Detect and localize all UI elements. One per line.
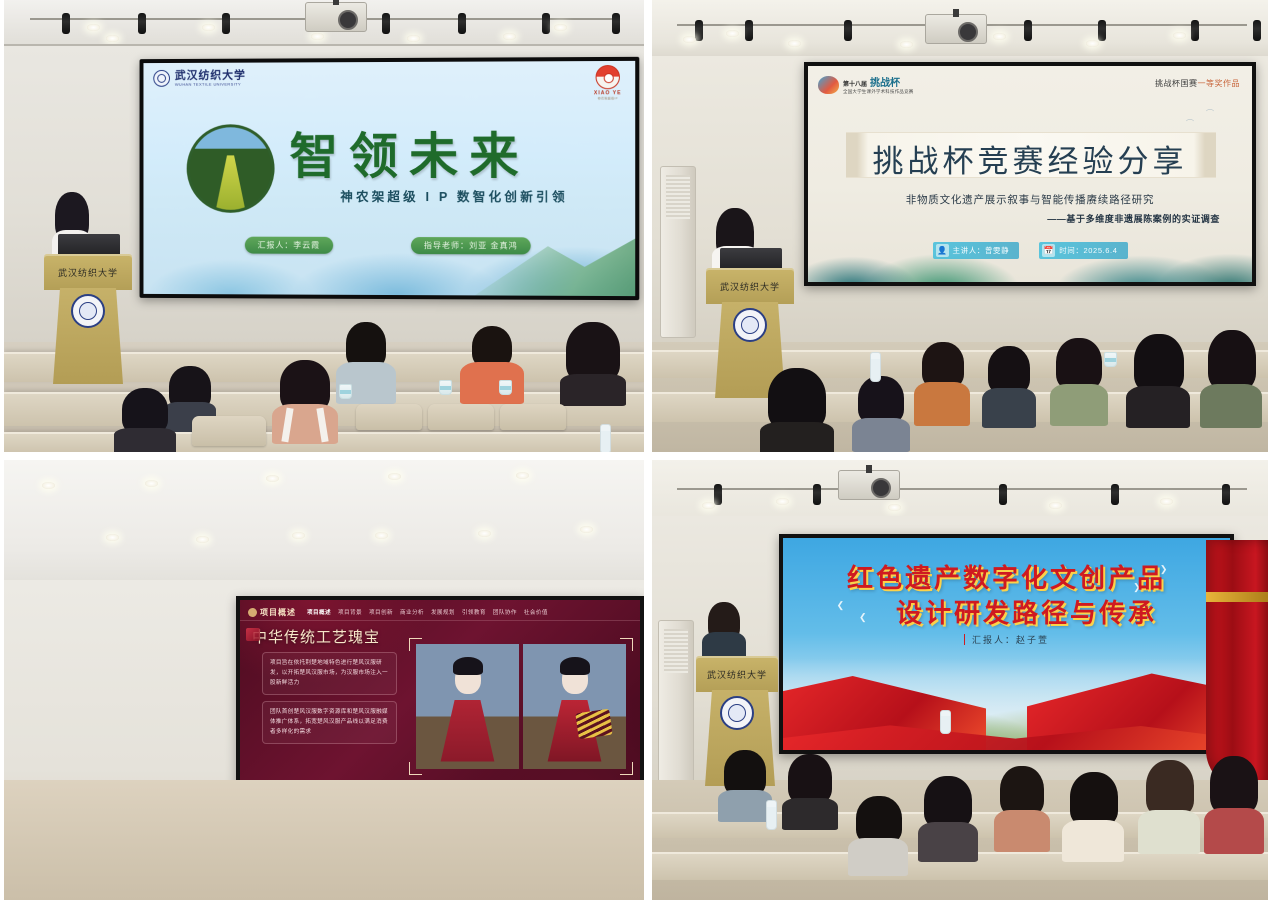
slide-2: 第十八届 挑战杯 全国大学生课外学术科技作品竞赛 挑战杯国赛一等奖作品 ⌒ ⌒ … <box>808 66 1252 282</box>
audience-member <box>782 754 838 828</box>
water-bottle <box>766 800 777 830</box>
track-spot-light <box>62 13 70 34</box>
person-icon: 👤 <box>936 244 949 257</box>
brand-dot-icon <box>248 608 257 617</box>
audience-member <box>114 388 176 452</box>
presenter-pill: 汇报人：李云霞 <box>245 237 333 254</box>
chair-back <box>192 416 266 446</box>
ceiling-projector <box>305 2 367 32</box>
slide-brand: 项目概述 <box>248 607 296 618</box>
track-spot-light <box>813 484 821 505</box>
university-logo: 武汉纺织大学 WUHAN TEXTILE UNIVERSITY <box>153 70 246 87</box>
ceiling-projector <box>838 470 900 500</box>
nav-item-3[interactable]: 商业分析 <box>400 608 424 616</box>
audience-member <box>718 750 772 820</box>
frame-corner-bl <box>409 762 422 775</box>
downlight <box>42 482 55 489</box>
slide-title: 智领未来 <box>289 116 610 188</box>
award-level: 一等奖作品 <box>1198 79 1241 88</box>
podium-label: 武汉纺织大学 <box>706 280 794 293</box>
panel-bottom-left: 项目概述 项目概述 项目背景 项目创新 商业分析 发展规划 引领教育 团队协作 … <box>4 460 644 900</box>
audience-member <box>560 322 626 406</box>
stage-curtain <box>1206 540 1268 790</box>
track-spot-light <box>999 484 1007 505</box>
frame-corner-br <box>620 762 633 775</box>
seagull-icon: ⌒ <box>1206 108 1214 119</box>
downlight <box>1086 40 1099 47</box>
downlight <box>726 30 739 37</box>
track-spot-light <box>612 13 620 34</box>
slide-subtitle: 非物质文化遗产展示叙事与智能传播赓续路径研究 <box>808 192 1252 207</box>
audience-member <box>914 342 970 424</box>
downlight <box>900 41 913 48</box>
challenge-cup-icon <box>818 76 839 94</box>
water-bottle <box>600 424 611 452</box>
downlight <box>292 532 305 539</box>
figure-hair <box>560 657 590 675</box>
slide-image-group <box>416 644 626 769</box>
slide-credits: 汇报人：李云霞 指导老师：刘亚 金真鸿 <box>143 236 635 254</box>
audience-member <box>272 360 338 442</box>
audience-member <box>852 376 910 450</box>
contest-edition: 第十八届 <box>843 79 867 88</box>
advisor-pill: 指导老师：刘亚 金真鸿 <box>411 237 531 254</box>
figure-hair <box>453 657 483 675</box>
date-label: 时间：2025.6.4 <box>1059 245 1117 256</box>
nav-item-5[interactable]: 引领教育 <box>462 608 486 616</box>
brand-logo: XIAO YE 神农架超级IP <box>590 65 625 100</box>
audience-member <box>760 368 834 452</box>
downlight <box>516 472 529 479</box>
track-spot-light <box>1024 20 1032 41</box>
slide-title-line-1: 红色遗产数字化文创产品 <box>783 558 1230 595</box>
speaker-chip: 👤 主讲人：曾雯静 <box>933 242 1020 259</box>
downlight <box>87 24 100 31</box>
presentation-screen-3[interactable]: 项目概述 项目概述 项目背景 项目创新 商业分析 发展规划 引领教育 团队协作 … <box>236 596 644 801</box>
ceiling-projector <box>925 14 987 44</box>
presentation-screen-4[interactable]: ❮ ❮ ❯ ❯ 红色遗产数字化文创产品 设计研发路径与传承 汇报人：赵子萱 <box>779 534 1234 754</box>
calendar-icon: 📅 <box>1042 244 1055 257</box>
ceiling-panel-1 <box>4 0 644 52</box>
audience-member <box>982 346 1036 426</box>
downlight <box>993 33 1006 40</box>
instrument-prop <box>575 708 612 738</box>
downlight <box>580 526 593 533</box>
track-spot-light <box>138 13 146 34</box>
presenter-rule <box>964 634 965 645</box>
slide-3: 项目概述 项目概述 项目背景 项目创新 商业分析 发展规划 引领教育 团队协作 … <box>240 600 640 797</box>
audience-member <box>460 326 524 404</box>
slide-circular-photo <box>187 124 275 213</box>
air-conditioner <box>658 620 694 800</box>
paper-cup <box>1104 352 1117 367</box>
nav-item-7[interactable]: 社会价值 <box>524 608 548 616</box>
podium-label: 武汉纺织大学 <box>44 266 132 279</box>
panel-bottom-right: ❮ ❮ ❯ ❯ 红色遗产数字化文创产品 设计研发路径与传承 汇报人：赵子萱 武汉… <box>652 460 1268 900</box>
panel-top-right: 第十八届 挑战杯 全国大学生课外学术科技作品竞赛 挑战杯国赛一等奖作品 ⌒ ⌒ … <box>652 0 1268 452</box>
award-scope: 挑战杯国赛 <box>1155 79 1198 88</box>
downlight <box>388 473 401 480</box>
downlight <box>106 534 119 541</box>
downlight <box>106 35 119 42</box>
frame-corner-tl <box>409 638 422 651</box>
university-crest-icon <box>720 696 754 730</box>
brand-label: 项目概述 <box>260 607 296 618</box>
presenter-panel-4 <box>700 602 748 664</box>
seagull-icon: ⌒ <box>1186 118 1194 129</box>
track-spot-light <box>1222 484 1230 505</box>
university-seal-icon <box>153 70 170 87</box>
downlight <box>407 35 420 42</box>
water-bottle <box>940 710 951 734</box>
panel-top-left: 武汉纺织大学 WUHAN TEXTILE UNIVERSITY XIAO YE … <box>4 0 644 452</box>
date-chip: 📅 时间：2025.6.4 <box>1039 242 1127 259</box>
podium-top: 武汉纺织大学 <box>44 254 132 290</box>
downlight <box>311 33 324 40</box>
nav-item-2[interactable]: 项目创新 <box>369 608 393 616</box>
slide-4: ❮ ❮ ❯ ❯ 红色遗产数字化文创产品 设计研发路径与传承 汇报人：赵子萱 <box>783 538 1230 750</box>
downlight <box>145 480 158 487</box>
laptop[interactable] <box>720 248 782 270</box>
slide-heading: 中华传统工艺瑰宝 <box>252 626 380 647</box>
track-spot-light <box>695 20 703 41</box>
audience-member <box>1126 334 1190 426</box>
downlight <box>788 40 801 47</box>
speaker-label: 主讲人：曾雯静 <box>953 245 1010 256</box>
presentation-screen-1[interactable]: 武汉纺织大学 WUHAN TEXTILE UNIVERSITY XIAO YE … <box>140 57 640 300</box>
podium-label: 武汉纺织大学 <box>696 668 778 681</box>
slide-1: 武汉纺织大学 WUHAN TEXTILE UNIVERSITY XIAO YE … <box>143 61 635 296</box>
paper-cup <box>499 380 512 395</box>
slide-meta: 👤 主讲人：曾雯静 📅 时间：2025.6.4 <box>808 242 1252 259</box>
slide-navigation[interactable]: 项目概述 项目概述 项目背景 项目创新 商业分析 发展规划 引领教育 团队协作 … <box>240 604 640 621</box>
track-spot-light <box>542 13 550 34</box>
downlight <box>776 498 789 505</box>
laptop[interactable] <box>58 234 120 256</box>
contest-name: 挑战杯 <box>870 74 900 89</box>
contest-logo: 第十八届 挑战杯 全国大学生课外学术科技作品竞赛 <box>818 74 914 95</box>
downlight <box>702 502 715 509</box>
track-spot-light <box>844 20 852 41</box>
downlight <box>683 36 696 43</box>
downlight <box>554 24 567 31</box>
award-badge: 挑战杯国赛一等奖作品 <box>1155 78 1240 89</box>
downlight <box>1173 32 1186 39</box>
frame-corner-tr <box>620 638 633 651</box>
audience-member <box>1138 760 1200 852</box>
ceiling-panel-4 <box>652 460 1268 520</box>
track-spot-light <box>1098 20 1106 41</box>
downlight <box>478 530 491 537</box>
audience-member <box>1204 756 1264 852</box>
audience-member <box>1062 772 1124 860</box>
downlight <box>503 33 516 40</box>
track-spot-light <box>714 484 722 505</box>
university-crest-icon <box>71 294 105 328</box>
audience-member <box>918 776 978 860</box>
track-spot-light <box>1253 20 1261 41</box>
audience-member <box>1050 338 1108 424</box>
slide-image-right <box>523 644 626 769</box>
chair-back <box>356 404 422 430</box>
slide-subtitle: 神农架超级 I P 数智化创新引领 <box>281 186 628 205</box>
track-spot-light <box>458 13 466 34</box>
presenter-label: 汇报人： <box>972 635 1016 645</box>
podium-top: 武汉纺织大学 <box>706 268 794 304</box>
light-track <box>677 488 1247 490</box>
audience-member <box>848 796 908 874</box>
nav-item-0[interactable]: 项目概述 <box>307 608 331 616</box>
downlight <box>375 532 388 539</box>
paper-cup <box>439 380 452 395</box>
track-spot-light <box>1191 20 1199 41</box>
audience-member <box>994 766 1050 850</box>
brand-sublabel: 神农架超级IP <box>590 96 625 100</box>
downlight <box>196 536 209 543</box>
presentation-collage: 武汉纺织大学 WUHAN TEXTILE UNIVERSITY XIAO YE … <box>0 0 1268 900</box>
contest-full-name: 全国大学生课外学术科技作品竞赛 <box>843 89 914 95</box>
slide-title: 挑战杯竞赛经验分享 <box>808 136 1252 181</box>
water-bottle <box>870 352 881 382</box>
university-name-en: WUHAN TEXTILE UNIVERSITY <box>175 82 246 86</box>
podium-top: 武汉纺织大学 <box>696 656 778 692</box>
downlight <box>1160 498 1173 505</box>
downlight <box>266 475 279 482</box>
audience-member <box>1200 330 1262 426</box>
air-conditioner <box>660 166 696 338</box>
slide-subtitle-secondary: ——基于多维度非遗展陈案例的实证调查 <box>1047 212 1220 225</box>
presenter-name: 赵子萱 <box>1016 635 1049 645</box>
slide-title-line-2: 设计研发路径与传承 <box>783 593 1230 630</box>
nav-item-6[interactable]: 团队协作 <box>493 608 517 616</box>
downlight <box>1049 502 1062 509</box>
track-spot-light <box>745 20 753 41</box>
track-spot-light <box>222 13 230 34</box>
slide-text-card-1: 项目旨在依托荆楚地域特色进行楚风汉服研发，以开拓楚风汉服市场，为汉服市场注入一股… <box>262 652 397 695</box>
university-crest-icon <box>733 308 767 342</box>
hanfu-robe <box>436 700 500 762</box>
track-spot-light <box>1111 484 1119 505</box>
chair-back <box>500 404 566 430</box>
nav-item-4[interactable]: 发展规划 <box>431 608 455 616</box>
downlight <box>888 504 901 511</box>
presentation-screen-2[interactable]: 第十八届 挑战杯 全国大学生课外学术科技作品竞赛 挑战杯国赛一等奖作品 ⌒ ⌒ … <box>804 62 1256 286</box>
ceiling-panel-2 <box>652 0 1268 60</box>
slide-presenter: 汇报人：赵子萱 <box>783 633 1230 646</box>
chair-back <box>428 404 494 430</box>
podium-panel-1: 武汉纺织大学 <box>44 254 132 384</box>
downlight <box>202 24 215 31</box>
paper-cup <box>339 384 352 399</box>
nav-item-1[interactable]: 项目背景 <box>338 608 362 616</box>
slide-text-card-2: 团队首创楚风汉服数字资源库和楚风汉服融媒体推广体系，拓宽楚风汉服产品线以满足消费… <box>262 701 397 744</box>
ceiling-panel-3 <box>4 460 644 588</box>
slide-image-left <box>416 644 519 769</box>
floor-panel-3 <box>4 780 644 900</box>
brand-circle-icon <box>596 65 620 89</box>
track-spot-light <box>382 13 390 34</box>
university-name-cn: 武汉纺织大学 <box>175 70 246 81</box>
